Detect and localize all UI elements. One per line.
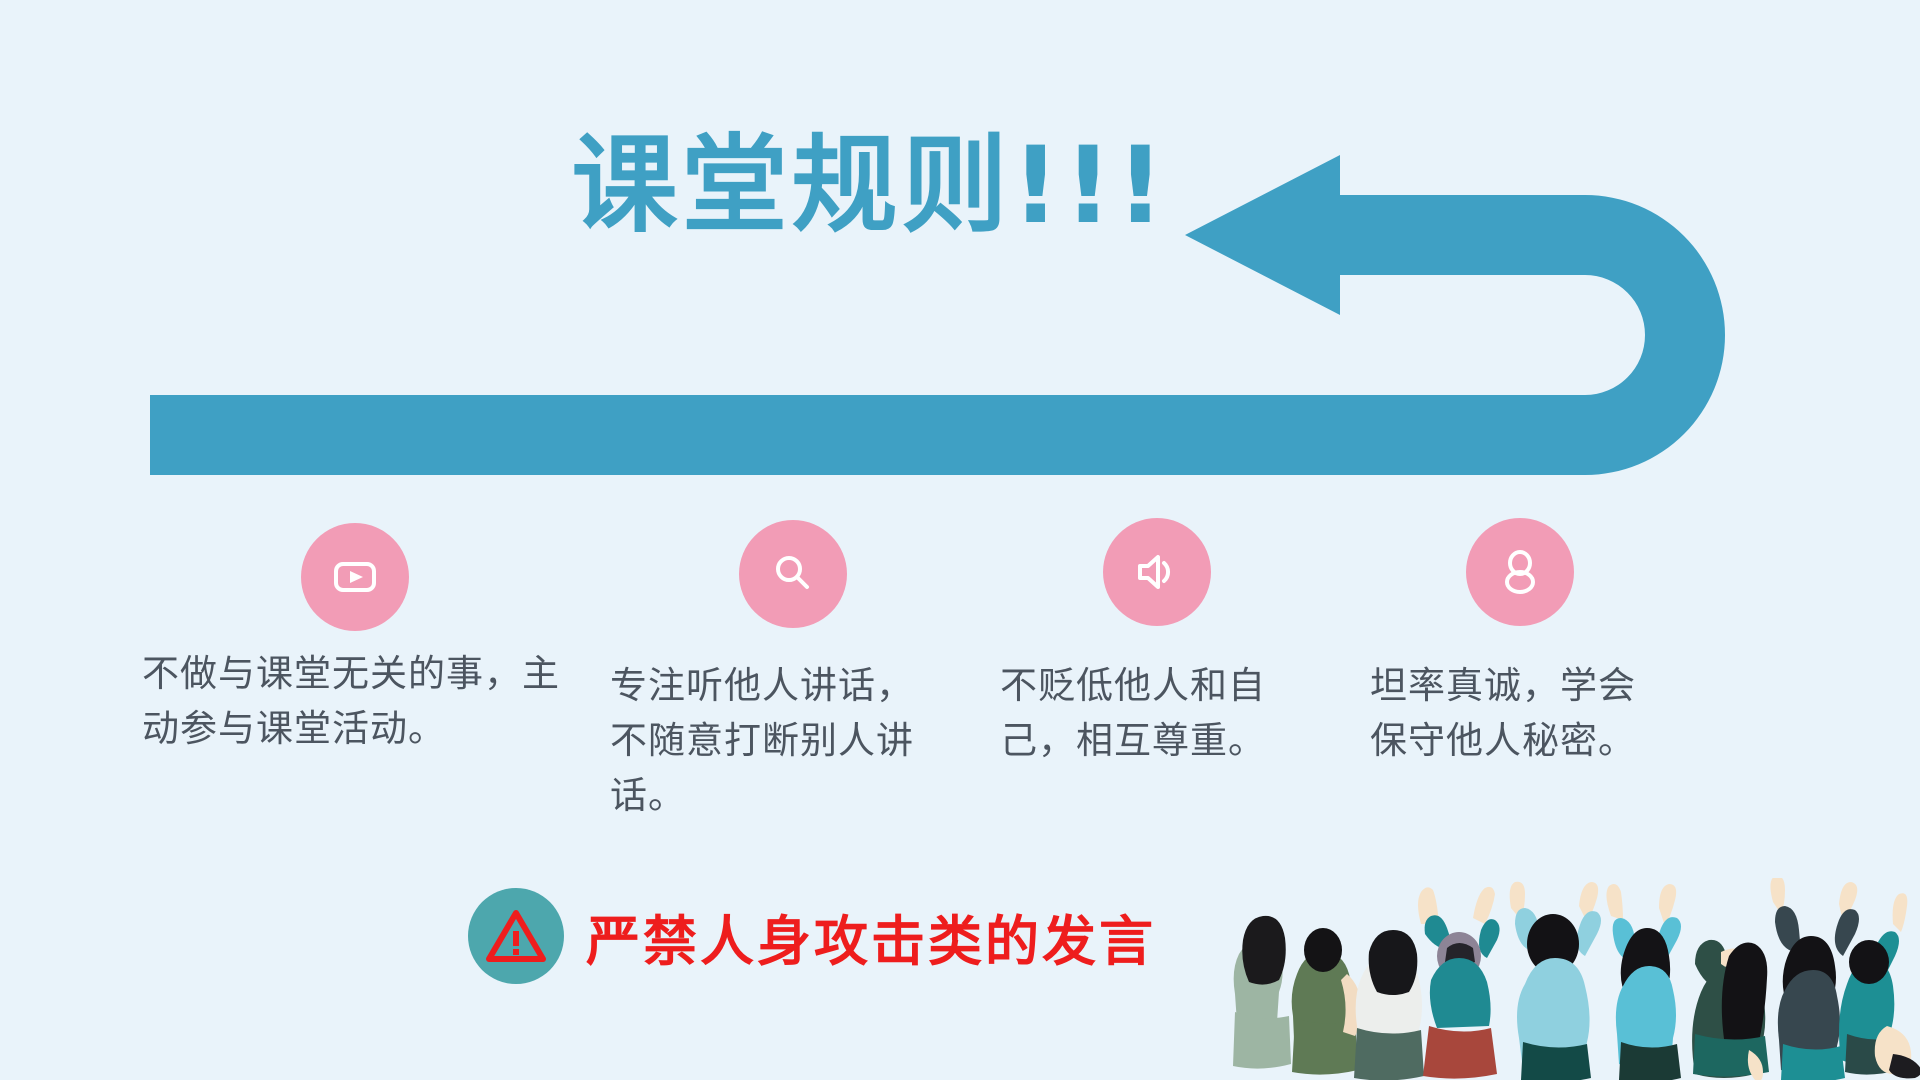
warning-badge (468, 888, 564, 984)
rule-icon-circle-2[interactable] (739, 520, 847, 628)
u-turn-arrow (150, 155, 1790, 515)
person-1 (1233, 916, 1291, 1069)
rule-text-2: 专注听他人讲话，不随意打断别人讲话。 (610, 660, 950, 824)
warning-banner: 严禁人身攻击类的发言 (468, 888, 1156, 984)
person-2 (1292, 928, 1361, 1075)
rule-icon-circle-3[interactable] (1103, 518, 1211, 626)
person-4-arms-up (1418, 887, 1500, 1079)
rule-icon-circle-1[interactable] (301, 523, 409, 631)
person-7-kneeling (1692, 940, 1769, 1080)
person-5-arms-up (1510, 882, 1601, 1080)
rule-text-1: 不做与课堂无关的事，主动参与课堂活动。 (142, 648, 562, 758)
slide-canvas: 课堂规则!!! 不做与课堂无关的事，主动参与课堂活动。 专注听他人讲话，不随意打… (0, 0, 1920, 1080)
video-play-icon (328, 550, 382, 604)
person-3 (1354, 930, 1424, 1080)
rule-icon-circle-4[interactable] (1466, 518, 1574, 626)
rule-text-4: 坦率真诚，学会保守他人秘密。 (1370, 660, 1670, 770)
group-of-people-illustration (1225, 878, 1920, 1080)
rule-text-3: 不贬低他人和自己，相互尊重。 (1000, 660, 1290, 770)
person-user-icon (1493, 545, 1547, 599)
speaker-volume-icon (1130, 545, 1184, 599)
warning-label: 严禁人身攻击类的发言 (586, 897, 1156, 976)
warning-triangle-icon (485, 907, 547, 965)
person-6-arms-up (1606, 884, 1681, 1080)
search-icon (766, 547, 820, 601)
